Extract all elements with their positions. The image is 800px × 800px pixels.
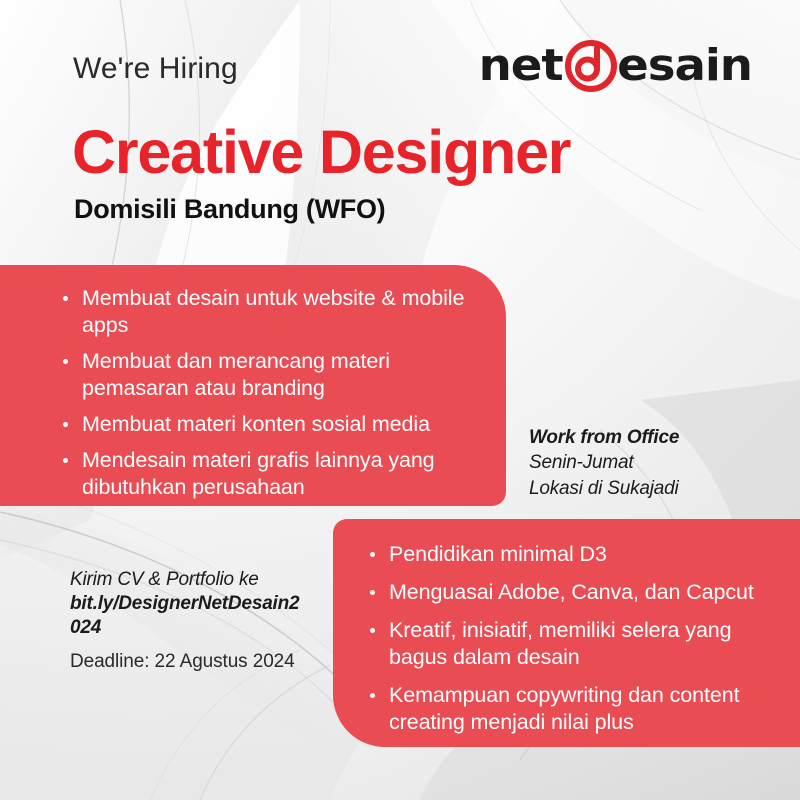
- list-item: Kreatif, inisiatif, memiliki selera yang…: [367, 617, 783, 671]
- qualifications-panel: Pendidikan minimal D3 Menguasai Adobe, C…: [333, 519, 800, 747]
- hiring-poster: We're Hiring net esain Creative Designer…: [0, 0, 800, 800]
- list-item: Kemampuan copywriting dan content creati…: [367, 682, 783, 736]
- work-from-office-note: Work from Office Senin-Jumat Lokasi di S…: [529, 425, 679, 501]
- apply-link[interactable]: bit.ly/DesignerNetDesain2024: [70, 592, 300, 640]
- responsibilities-panel: Membuat desain untuk website & mobile ap…: [0, 265, 506, 506]
- company-logo: net esain: [481, 38, 748, 94]
- list-item: Mendesain materi grafis lainnya yang dib…: [60, 447, 466, 501]
- circle-d-mark-icon: [564, 39, 618, 93]
- responsibilities-list: Membuat desain untuk website & mobile ap…: [60, 285, 466, 502]
- work-info-days: Senin-Jumat: [529, 450, 679, 475]
- logo-text-before: net: [478, 44, 562, 88]
- job-location-note: Domisili Bandung (WFO): [74, 194, 385, 225]
- work-info-location: Lokasi di Sukajadi: [529, 476, 679, 501]
- job-title: Creative Designer: [72, 122, 570, 183]
- work-info-title: Work from Office: [529, 425, 679, 450]
- application-deadline: Deadline: 22 Agustus 2024: [70, 651, 295, 673]
- apply-block: Kirim CV & Portfolio ke bit.ly/DesignerN…: [70, 568, 300, 640]
- hiring-label: We're Hiring: [73, 52, 238, 86]
- logo-text-after: esain: [617, 44, 752, 88]
- list-item: Membuat desain untuk website & mobile ap…: [60, 285, 466, 339]
- list-item: Membuat materi konten sosial media: [60, 411, 466, 438]
- list-item: Pendidikan minimal D3: [367, 541, 783, 568]
- apply-instruction: Kirim CV & Portfolio ke: [70, 568, 300, 592]
- list-item: Membuat dan merancang materi pemasaran a…: [60, 348, 466, 402]
- list-item: Menguasai Adobe, Canva, dan Capcut: [367, 579, 783, 606]
- qualifications-list: Pendidikan minimal D3 Menguasai Adobe, C…: [367, 541, 783, 736]
